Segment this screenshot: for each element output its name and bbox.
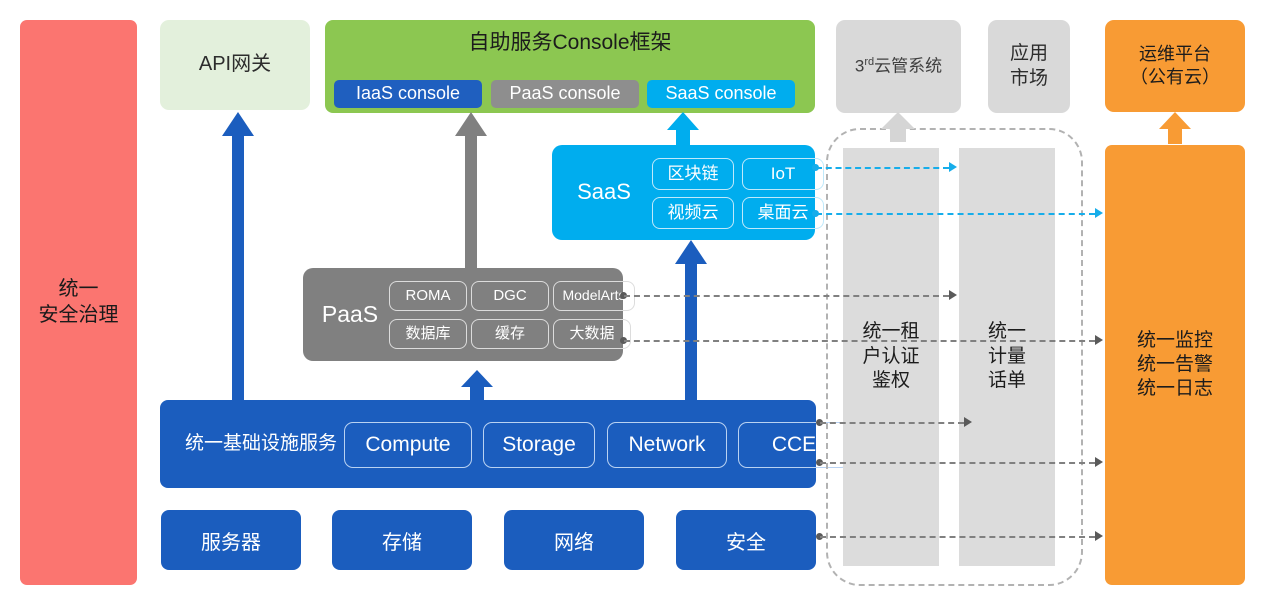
paas-layer-box[interactable]: PaaS ROMA DGC ModelArts 数据库 缓存 大数据 xyxy=(303,268,623,361)
third-party-suffix: 云管系统 xyxy=(874,57,942,76)
paas-chip-cache[interactable]: 缓存 xyxy=(471,319,549,349)
ops-platform-line-1: 运维平台 xyxy=(1130,43,1220,66)
unified-tenant-auth-column[interactable]: 统一租 户认证 鉴权 xyxy=(843,148,939,566)
third-party-cloud-management-box[interactable]: 3rd云管系统 xyxy=(836,20,961,113)
paas-chip-database[interactable]: 数据库 xyxy=(389,319,467,349)
saas-console-label: SaaS console xyxy=(665,82,776,105)
console-frame-title: 自助服务Console框架 xyxy=(325,30,815,57)
infra-chip-cce-label: CCE xyxy=(772,432,816,459)
unified-infrastructure-label: 统一基础设施服务 xyxy=(172,400,350,488)
dashed-infra-to-ops xyxy=(820,462,1095,464)
infra-chip-network[interactable]: Network xyxy=(607,422,727,468)
unified-metering-billing-column[interactable]: 统一 计量 话单 xyxy=(959,148,1055,566)
saas-chip-iot-label: IoT xyxy=(771,163,796,185)
ops-log-label: 统一日志 xyxy=(1137,377,1213,401)
paas-chip-bigdata[interactable]: 大数据 xyxy=(553,319,631,349)
infra-chip-compute[interactable]: Compute xyxy=(344,422,472,468)
resource-security-label: 安全 xyxy=(726,526,766,555)
infra-chip-compute-label: Compute xyxy=(365,432,450,459)
resource-box-server[interactable]: 服务器 xyxy=(161,510,301,570)
saas-chip-blockchain[interactable]: 区块链 xyxy=(652,158,734,190)
ops-platform-label: 运维平台 （公有云） xyxy=(1130,43,1220,89)
saas-chip-video-cloud[interactable]: 视频云 xyxy=(652,197,734,229)
governance-label: 统一 安全治理 xyxy=(39,277,119,328)
paas-chip-bigdata-label: 大数据 xyxy=(569,324,614,343)
architecture-diagram: 统一 安全治理 API网关 自助服务Console框架 IaaS console… xyxy=(0,0,1265,605)
paas-console-label: PaaS console xyxy=(509,82,620,105)
saas-chip-video-cloud-label: 视频云 xyxy=(668,202,719,224)
paas-chip-roma[interactable]: ROMA xyxy=(389,281,467,311)
ops-monitoring-label: 统一监控 xyxy=(1137,329,1213,353)
paas-chip-dgc-label: DGC xyxy=(493,286,526,305)
ops-capabilities-label: 统一监控 统一告警 统一日志 xyxy=(1137,329,1213,402)
infra-chip-storage[interactable]: Storage xyxy=(483,422,595,468)
arrowhead-paas-to-auth xyxy=(949,290,957,300)
resource-box-network[interactable]: 网络 xyxy=(504,510,644,570)
governance-line-1: 统一 xyxy=(39,277,119,303)
infra-chip-network-label: Network xyxy=(628,432,705,459)
arrow-shared-to-third-party xyxy=(879,112,917,142)
ops-alarm-label: 统一告警 xyxy=(1137,353,1213,377)
dashed-saas-to-ops xyxy=(816,213,1095,215)
arrow-infra-to-api-gateway xyxy=(220,112,256,402)
paas-chip-cache-label: 缓存 xyxy=(495,324,525,343)
paas-layer-label: PaaS xyxy=(311,268,389,361)
saas-console-chip[interactable]: SaaS console xyxy=(647,80,795,108)
unified-security-governance-panel[interactable]: 统一 安全治理 xyxy=(20,20,137,585)
app-market-line-2: 市场 xyxy=(1010,67,1048,91)
dashed-resources-to-ops xyxy=(820,536,1095,538)
saas-layer-box[interactable]: SaaS 区块链 IoT 视频云 桌面云 xyxy=(552,145,815,240)
paas-chip-roma-label: ROMA xyxy=(406,286,451,305)
third-party-label: 3rd云管系统 xyxy=(855,55,942,77)
arrow-infra-to-saas xyxy=(674,240,708,402)
arrowhead-saas-to-ops xyxy=(1095,208,1103,218)
api-gateway-box[interactable]: API网关 xyxy=(160,20,310,110)
resource-box-storage[interactable]: 存储 xyxy=(332,510,472,570)
arrowhead-saas-to-auth xyxy=(949,162,957,172)
app-market-box[interactable]: 应用 市场 xyxy=(988,20,1070,113)
dashed-paas-to-auth xyxy=(624,295,949,297)
arrowhead-infra-to-meter xyxy=(964,417,972,427)
metering-line-3: 话单 xyxy=(988,369,1026,394)
auth-line-3: 鉴权 xyxy=(862,369,919,394)
arrowhead-paas-to-ops xyxy=(1095,335,1103,345)
arrowhead-infra-to-ops xyxy=(1095,457,1103,467)
metering-line-2: 计量 xyxy=(988,345,1026,370)
resource-box-security[interactable]: 安全 xyxy=(676,510,816,570)
unified-metering-billing-label: 统一 计量 话单 xyxy=(988,320,1026,394)
api-gateway-label: API网关 xyxy=(199,52,271,78)
infra-chip-storage-label: Storage xyxy=(502,432,576,459)
saas-layer-label: SaaS xyxy=(562,145,646,240)
dashed-saas-to-auth xyxy=(816,167,949,169)
dashed-infra-to-meter xyxy=(820,422,964,424)
paas-chip-database-label: 数据库 xyxy=(405,324,450,343)
ops-capabilities-panel[interactable]: 统一监控 统一告警 统一日志 xyxy=(1105,145,1245,585)
dashed-paas-to-ops xyxy=(624,340,1095,342)
iaas-console-label: IaaS console xyxy=(356,82,460,105)
third-party-prefix: 3 xyxy=(855,57,864,76)
arrow-saas-to-saas-console xyxy=(666,112,700,146)
arrow-shared-to-ops-platform xyxy=(1158,112,1192,144)
paas-chip-modelarts-label: ModelArts xyxy=(562,287,625,305)
self-service-console-frame[interactable]: 自助服务Console框架 IaaS console PaaS console … xyxy=(325,20,815,113)
arrow-paas-to-console xyxy=(453,112,489,270)
unified-tenant-auth-label: 统一租 户认证 鉴权 xyxy=(862,320,919,394)
ops-platform-box[interactable]: 运维平台 （公有云） xyxy=(1105,20,1245,112)
saas-chip-blockchain-label: 区块链 xyxy=(668,163,719,185)
governance-line-2: 安全治理 xyxy=(39,303,119,329)
paas-console-chip[interactable]: PaaS console xyxy=(491,80,639,108)
app-market-line-1: 应用 xyxy=(1010,42,1048,66)
saas-chip-iot[interactable]: IoT xyxy=(742,158,824,190)
paas-chip-dgc[interactable]: DGC xyxy=(471,281,549,311)
saas-chip-desktop-cloud-label: 桌面云 xyxy=(758,202,809,224)
unified-infrastructure-box[interactable]: 统一基础设施服务 Compute Storage Network CCE xyxy=(160,400,816,488)
iaas-console-chip[interactable]: IaaS console xyxy=(334,80,482,108)
third-party-superscript: rd xyxy=(864,56,874,68)
ops-platform-line-2: （公有云） xyxy=(1130,66,1220,89)
arrow-infra-to-paas xyxy=(459,370,495,402)
resource-network-label: 网络 xyxy=(554,526,594,555)
arrowhead-resources-to-ops xyxy=(1095,531,1103,541)
app-market-label: 应用 市场 xyxy=(1010,42,1048,91)
resource-storage-label: 存储 xyxy=(382,526,422,555)
auth-line-2: 户认证 xyxy=(862,345,919,370)
resource-server-label: 服务器 xyxy=(201,526,261,555)
